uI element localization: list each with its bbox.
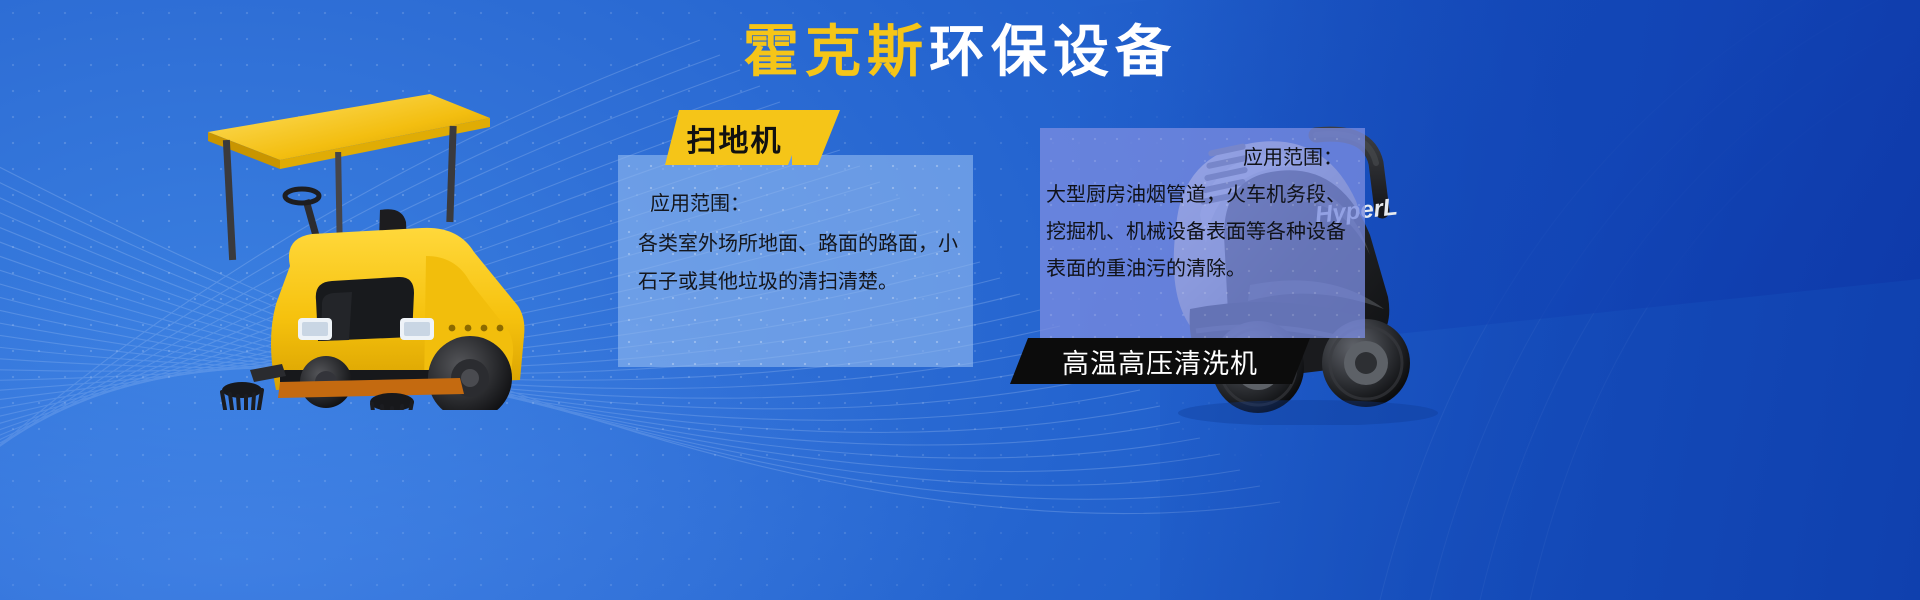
sweeper-lead-label: 应用范围： bbox=[650, 185, 968, 223]
sweeper-product-image bbox=[130, 60, 550, 410]
sweeper-tag-label: 扫地机 bbox=[687, 116, 783, 160]
banner-title-gold: 霍克斯 bbox=[743, 20, 929, 83]
sweeper-body-text: 各类室外场所地面、路面的路面，小石子或其他垃圾的清扫清楚。 bbox=[638, 225, 968, 301]
sweeper-text-block: 应用范围： 各类室外场所地面、路面的路面，小石子或其他垃圾的清扫清楚。 bbox=[638, 185, 968, 301]
banner-title: 霍克斯环保设备 bbox=[0, 24, 1920, 80]
banner-title-white: 环保设备 bbox=[929, 20, 1177, 83]
washer-text-block: 应用范围： 大型厨房油烟管道，火车机务段、挖掘机、机械设备表面等各种设备表面的重… bbox=[1040, 140, 1365, 288]
washer-body-text: 大型厨房油烟管道，火车机务段、挖掘机、机械设备表面等各种设备表面的重油污的清除。 bbox=[1040, 177, 1365, 288]
washer-lead-label: 应用范围： bbox=[1040, 140, 1365, 177]
promo-banner: HyperL 霍克斯环保设备 扫地机 应用范围： 各类室外场所地面、路面的路 bbox=[0, 0, 1920, 600]
washer-tag[interactable]: 高温高压清洗机 bbox=[1010, 338, 1310, 384]
sweeper-tag[interactable]: 扫地机 bbox=[665, 110, 810, 165]
washer-tag-label: 高温高压清洗机 bbox=[1062, 342, 1258, 381]
